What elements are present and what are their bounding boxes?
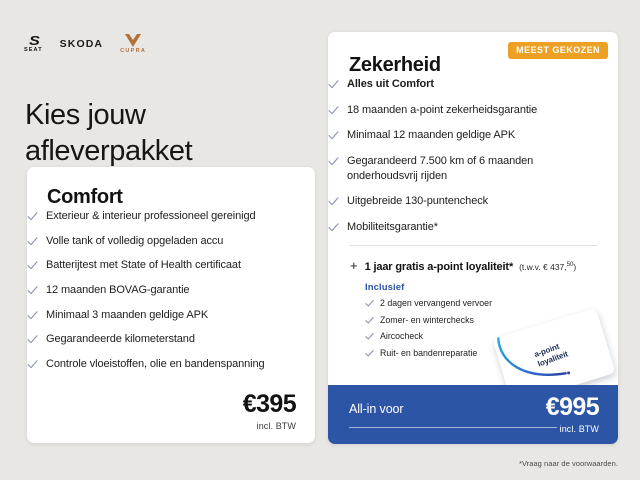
inclusief-text: 2 dagen vervangend vervoer [380,298,492,309]
list-item: Exterieur & interieur professioneel gere… [27,209,275,224]
comfort-price: €395 [243,392,296,417]
plus-icon: + [350,259,358,272]
feature-text: Uitgebreide 130-puntencheck [347,194,488,209]
feature-text: Minimaal 3 maanden geldige APK [46,308,208,323]
seat-logo-wordmark: SEAT [24,48,43,54]
seat-logo-mark: S [29,34,39,47]
footer-rule [349,427,557,428]
feature-text: Volle tank of volledig opgeladen accu [46,234,223,249]
list-item: Controle vloeistoffen, olie en bandenspa… [27,357,275,372]
check-icon [328,79,339,90]
list-item: Gegarandeerd 7.500 km of 6 maanden onder… [328,154,578,183]
comfort-feature-list: Exterieur & interieur professioneel gere… [27,209,275,371]
check-icon [27,236,38,247]
list-item: Alles uit Comfort [328,77,578,92]
status-badge: MEEST GEKOZEN [508,42,608,59]
list-item: Minimaal 3 maanden geldige APK [27,308,275,323]
cupra-logo-wordmark: CUPRA [120,49,146,55]
page-title: Kies jouw afleverpakket [25,98,315,169]
feature-text: Minimaal 12 maanden geldige APK [347,128,515,143]
check-icon [328,196,339,207]
list-item: 2 dagen vervangend vervoer [365,298,545,309]
inclusief-text: Zomer- en winterchecks [380,315,474,326]
inclusief-text: Aircocheck [380,331,423,342]
check-icon [328,105,339,116]
check-icon [27,310,38,321]
inclusief-text: Ruit- en bandenreparatie [380,348,477,359]
list-item: Zomer- en winterchecks [365,315,545,326]
list-item: 12 maanden BOVAG-garantie [27,283,275,298]
list-item: Minimaal 12 maanden geldige APK [328,128,578,143]
check-icon [27,260,38,271]
comfort-price-block: €395 incl. BTW [243,392,296,431]
feature-text: 12 maanden BOVAG-garantie [46,283,189,298]
bonus-value-prefix: (t.w.v. € 437, [519,262,567,272]
zekerheid-price-footer: All-in voor €995 incl. BTW [328,385,618,444]
feature-text: Controle vloeistoffen, olie en bandenspa… [46,357,265,372]
cupra-logo: CUPRA [120,34,146,55]
check-icon [365,332,374,341]
check-icon [27,334,38,345]
zekerheid-feature-list: Alles uit Comfort 18 maanden a-point zek… [328,77,578,234]
list-item: 18 maanden a-point zekerheidsgarantie [328,103,578,118]
bonus-label: 1 jaar gratis a-point loyaliteit* [365,261,513,273]
feature-text: 18 maanden a-point zekerheidsgarantie [347,103,537,118]
check-icon [328,156,339,167]
check-icon [27,359,38,370]
feature-text: Mobiliteitsgarantie* [347,220,438,235]
list-item: Uitgebreide 130-puntencheck [328,194,578,209]
feature-text: Batterijtest met State of Health certifi… [46,258,241,273]
divider [349,245,597,246]
zekerheid-price-note: incl. BTW [546,424,599,434]
check-icon [365,316,374,325]
check-icon [27,285,38,296]
list-item: Volle tank of volledig opgeladen accu [27,234,275,249]
skoda-logo: SKODA [60,38,103,50]
seat-logo: S SEAT [24,34,43,54]
check-icon [328,222,339,233]
bonus-value: (t.w.v. € 437,50) [519,262,576,272]
bonus-value-suffix: ) [573,262,576,272]
comfort-package-card[interactable]: Comfort Exterieur & interieur profession… [27,167,315,443]
feature-text: Exterieur & interieur professioneel gere… [46,209,256,224]
inclusief-title: Inclusief [365,282,618,293]
check-icon [27,211,38,222]
bonus-row: + 1 jaar gratis a-point loyaliteit* (t.w… [350,259,612,273]
zekerheid-package-card[interactable]: MEEST GEKOZEN Zekerheid Alles uit Comfor… [328,32,618,444]
list-item: Gegarandeerde kilometerstand [27,332,275,347]
brand-logo-bar: S SEAT SKODA CUPRA [24,33,146,55]
feature-text: Gegarandeerde kilometerstand [46,332,195,347]
check-icon [365,349,374,358]
check-icon [328,130,339,141]
zekerheid-price-block: €995 incl. BTW [546,395,599,434]
feature-text: Alles uit Comfort [347,77,434,92]
comfort-price-note: incl. BTW [243,421,296,431]
list-item: Batterijtest met State of Health certifi… [27,258,275,273]
footnote: *Vraag naar de voorwaarden. [519,459,618,468]
allin-label: All-in voor [349,402,403,416]
list-item: Mobiliteitsgarantie* [328,220,578,235]
cupra-logo-mark [125,34,141,47]
check-icon [365,299,374,308]
comfort-card-heading: Comfort [47,186,315,209]
zekerheid-price: €995 [546,395,599,420]
feature-text: Gegarandeerd 7.500 km of 6 maanden onder… [347,154,578,183]
